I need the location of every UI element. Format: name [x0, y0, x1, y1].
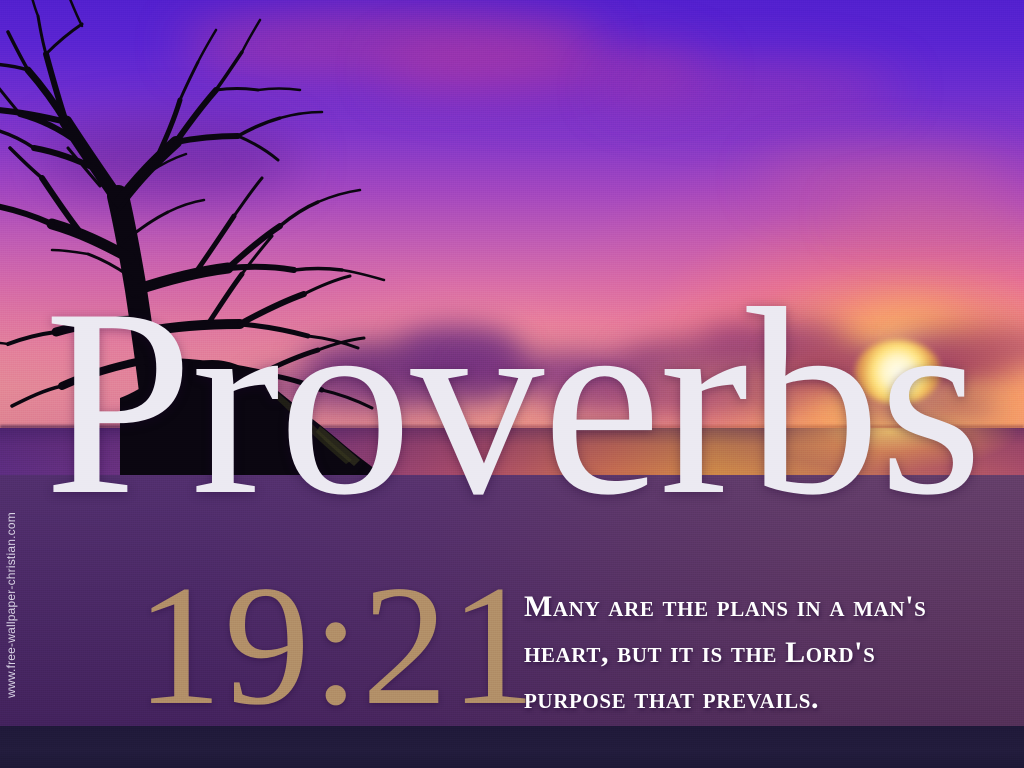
verse-line-2: heart, but it is the Lord's [524, 630, 924, 676]
cloud-wisp-top-3 [600, 60, 900, 116]
watermark-url: www.free-wallpaper-christian.com [4, 505, 18, 705]
bottom-bar [0, 726, 1024, 768]
verse-reference: 19:21 [136, 560, 538, 732]
page-title: Proverbs [44, 268, 981, 536]
wallpaper-canvas: Proverbs 19:21 Many are the plans in a m… [0, 0, 1024, 768]
verse-line-3: purpose that prevails. [524, 676, 924, 722]
cloud-wisp-right-2 [840, 195, 1024, 235]
verse-text: Many are the plans in a man's heart, but… [524, 584, 924, 722]
verse-line-1: Many are the plans in a man's [524, 584, 924, 630]
